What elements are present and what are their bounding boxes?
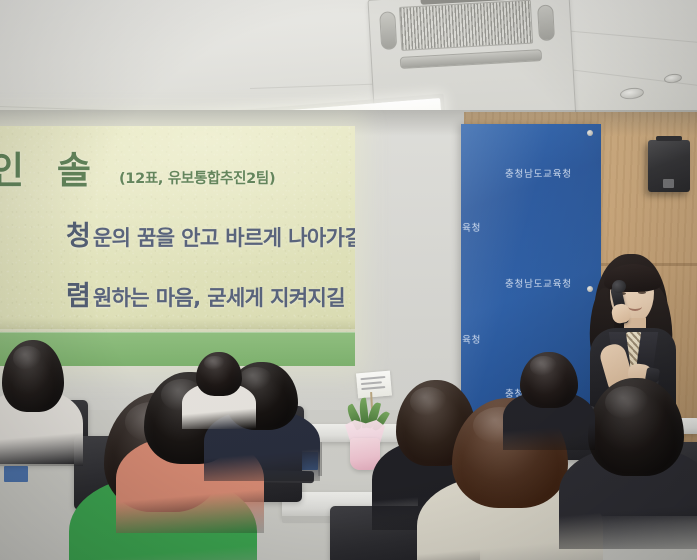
slide-acrostic-line-1: 청 운의 꿈을 안고 바르게 나아가길 [66, 214, 355, 253]
attendee-far-right-back-head [520, 352, 578, 408]
attendee-back-left-head [2, 340, 64, 412]
slide-title: 인 솔 [0, 140, 101, 194]
projection-screen: 인 솔 (12표, 유보통합추진2팀) 청 운의 꿈을 안고 바르게 나아가길 … [0, 126, 355, 366]
slide-title-row: 인 솔 (12표, 유보통합추진2팀) [0, 140, 275, 194]
attendee-back-left [2, 340, 64, 480]
ceiling [0, 0, 697, 128]
slide-subtitle: (12표, 유보통합추진2팀) [119, 167, 275, 188]
slide-acrostic-line-2: 렴 원하는 마음, 굳세게 지켜지길 [66, 274, 345, 313]
attendee-back-row-left [196, 352, 242, 438]
presentation-photo-scene: 인 솔 (12표, 유보통합추진2팀) 청 운의 꿈을 안고 바르게 나아가길 … [0, 0, 697, 560]
banner-text-0: 충청남도교육청 [505, 166, 572, 180]
slide-acrostic-char-2: 렴 [66, 274, 90, 313]
attendee-far-right-back-hair-sheen [530, 356, 557, 375]
plant-card [356, 371, 392, 399]
ceiling-vent-icon [619, 87, 644, 101]
slide-line-text-2: 원하는 마음, 굳세게 지켜지길 [93, 282, 345, 312]
attendee-right-ponytail-hair-sheen [410, 387, 447, 416]
banner-text-1: 도교육청 [461, 220, 481, 234]
presenter-smile [628, 302, 642, 311]
attendee-far-right-back [520, 352, 578, 461]
wall-speaker-icon [648, 140, 690, 192]
attendee-far-right-head [588, 378, 684, 476]
slide-line-text-1: 운의 꿈을 안고 바르게 나아가길 [93, 222, 355, 252]
attendee-back-row-left-head [196, 352, 242, 396]
banner-grommet-top [587, 130, 593, 136]
attendee-back-left-hair-sheen [13, 346, 42, 370]
attendee-far-right [588, 378, 684, 560]
slide-acrostic-char-1: 청 [66, 214, 90, 253]
banner-text-2: 충청남도교육청 [505, 276, 572, 290]
presenter-eye-right [638, 291, 646, 294]
banner-text-3: 도교육청 [461, 332, 481, 346]
